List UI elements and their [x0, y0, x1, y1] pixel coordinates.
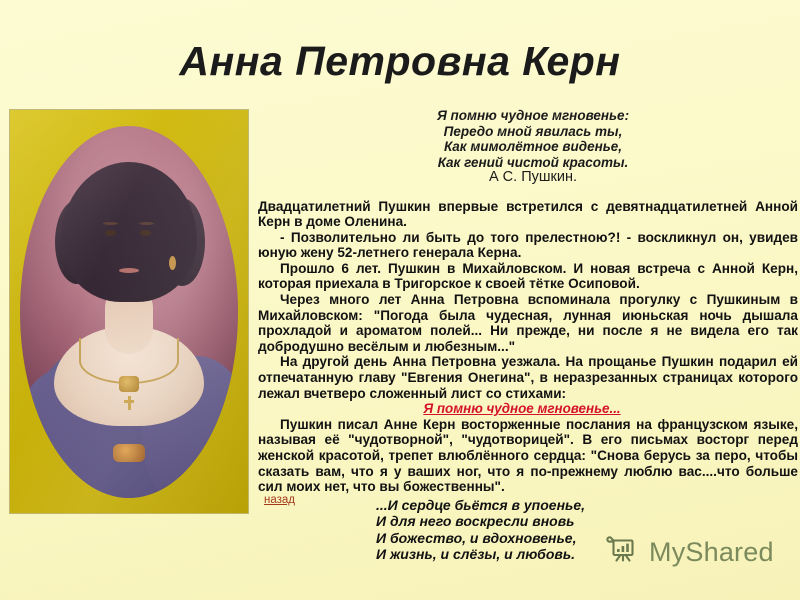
- paragraph-1: Двадцатилетний Пушкин впервые встретился…: [258, 199, 798, 230]
- paragraph-5: На другой день Анна Петровна уезжала. На…: [258, 354, 798, 401]
- epigraph: Я помню чудное мгновенье: Передо мной яв…: [258, 108, 798, 186]
- epigraph-line-2: Передо мной явилась ты,: [268, 124, 798, 140]
- myshared-logo[interactable]: MyShared: [606, 533, 774, 572]
- portrait-cross-icon: [124, 396, 134, 410]
- portrait-brow-right: [139, 222, 154, 225]
- epigraph-line-1: Я помню чудное мгновенье:: [268, 108, 798, 124]
- portrait-pendant: [119, 376, 139, 392]
- paragraph-3: Прошло 6 лет. Пушкин в Михайловском. И н…: [258, 261, 798, 292]
- portrait-brow-left: [103, 222, 118, 225]
- portrait-image: [10, 110, 248, 513]
- epigraph-line-4: Как гений чистой красоты.: [268, 155, 798, 171]
- body-text: Двадцатилетний Пушкин впервые встретился…: [258, 199, 798, 495]
- portrait-earring: [169, 256, 176, 270]
- presentation-chart-icon: [606, 533, 640, 572]
- page-title: Анна Петровна Керн: [0, 38, 800, 85]
- portrait-brooch: [113, 444, 145, 462]
- slide-canvas: Анна Петровна Керн Я по: [0, 0, 800, 600]
- text-column: Я помню чудное мгновенье: Передо мной яв…: [258, 108, 798, 562]
- paragraph-4: Через много лет Анна Петровна вспоминала…: [258, 292, 798, 354]
- back-link[interactable]: назад: [264, 494, 295, 506]
- epigraph-signature: А С. Пушкин.: [268, 170, 798, 186]
- verse-line-1: ...И сердце бьётся в упоенье,: [376, 497, 798, 513]
- paragraph-2: - Позволительно ли быть до того прелестн…: [258, 230, 798, 261]
- portrait-mouth: [119, 268, 139, 273]
- poem-link[interactable]: Я помню чудное мгновенье...: [423, 401, 620, 416]
- myshared-logo-text: MyShared: [649, 537, 774, 568]
- epigraph-line-3: Как мимолётное виденье,: [268, 139, 798, 155]
- verse-line-2: И для него воскресли вновь: [376, 513, 798, 529]
- portrait-eye-left: [105, 230, 116, 236]
- poem-link-row: Я помню чудное мгновенье...: [258, 401, 798, 417]
- paragraph-6: Пушкин писал Анне Керн восторженные посл…: [258, 417, 798, 495]
- portrait-hair-top: [61, 162, 197, 302]
- portrait-oval-vignette: [20, 126, 238, 498]
- portrait-eye-right: [140, 230, 151, 236]
